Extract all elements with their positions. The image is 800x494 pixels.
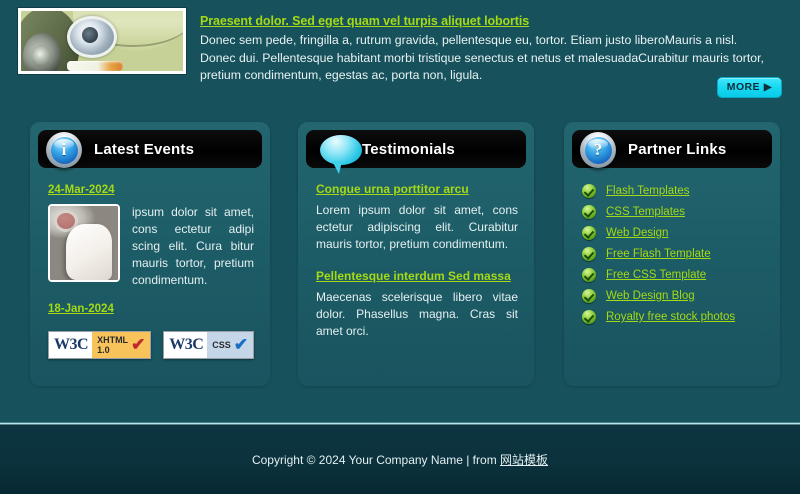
more-button[interactable]: MORE ▶	[717, 77, 782, 98]
thumb-seat-back	[66, 224, 112, 280]
hero-banner: Praesent dolor. Sed eget quam vel turpis…	[0, 0, 800, 112]
info-orb-glyph: i	[51, 137, 78, 164]
w3c-mark-label-2: W3C	[164, 332, 207, 358]
event-date-link-2[interactable]: 18-Jan-2024	[48, 303, 114, 315]
list-item[interactable]: CSS Templates	[582, 205, 764, 219]
testimonial-link-1[interactable]: Congue urna porttitor arcu	[316, 182, 469, 196]
partner-links-title: Partner Links	[628, 141, 726, 158]
testimonial-text-2: Maecenas scelerisque libero vitae dolor.…	[316, 289, 518, 340]
testimonials-title: Testimonials	[362, 141, 455, 158]
panel-latest-events: i Latest Events 24-Mar-2024 ipsum dolor …	[30, 122, 270, 386]
w3c-xhtml-kind-label: XHTML 1.0	[97, 335, 128, 355]
list-item[interactable]: Royalty free stock photos	[582, 310, 764, 324]
more-button-label: MORE	[727, 81, 760, 93]
copyright-text: Copyright © 2024 Your Company Name | fro…	[252, 451, 548, 468]
w3c-mark-label: W3C	[49, 332, 92, 358]
more-button-wrapper: MORE ▶	[717, 77, 782, 98]
partner-link-1[interactable]: CSS Templates	[606, 206, 685, 218]
partner-link-3[interactable]: Free Flash Template	[606, 248, 711, 260]
copyright-label: Copyright © 2024 Your Company Name | fro…	[252, 453, 500, 467]
list-item[interactable]: Free Flash Template	[582, 247, 764, 261]
partner-links-body: Flash Templates CSS Templates Web Design…	[564, 168, 780, 324]
green-check-icon	[582, 205, 596, 219]
speech-bubble-icon	[314, 132, 350, 168]
w3c-css-kind-label: CSS	[212, 340, 231, 350]
latest-events-header: i Latest Events	[38, 130, 262, 168]
w3c-css-badge[interactable]: W3C CSS ✔	[163, 331, 254, 359]
footer: Copyright © 2024 Your Company Name | fro…	[0, 425, 800, 494]
hero-text-block: Praesent dolor. Sed eget quam vel turpis…	[200, 8, 790, 112]
validation-badges: W3C XHTML 1.0 ✔ W3C CSS ✔	[48, 331, 254, 359]
partner-link-5[interactable]: Web Design Blog	[606, 290, 695, 302]
green-check-icon	[582, 310, 596, 324]
green-check-icon	[582, 184, 596, 198]
w3c-css-kind: CSS ✔	[207, 332, 253, 358]
arrow-right-icon: ▶	[764, 82, 772, 93]
car-interior-photo	[48, 204, 120, 282]
footer-template-link[interactable]: 网站模板	[500, 453, 548, 467]
testimonial-text-1: Lorem ipsum dolor sit amet, cons ectetur…	[316, 202, 518, 253]
w3c-xhtml-badge[interactable]: W3C XHTML 1.0 ✔	[48, 331, 151, 359]
partner-links-list: Flash Templates CSS Templates Web Design…	[582, 184, 764, 324]
content-columns: i Latest Events 24-Mar-2024 ipsum dolor …	[0, 112, 800, 424]
checkmark-icon-2: ✔	[234, 340, 248, 350]
hero-title-link[interactable]: Praesent dolor. Sed eget quam vel turpis…	[200, 14, 529, 28]
partner-links-header: ? Partner Links	[572, 130, 772, 168]
testimonials-body: Congue urna porttitor arcu Lorem ipsum d…	[298, 168, 534, 340]
hero-body-text: Donec sem pede, fringilla a, rutrum grav…	[200, 32, 790, 85]
page-root: Praesent dolor. Sed eget quam vel turpis…	[0, 0, 800, 494]
panel-partner-links: ? Partner Links Flash Templates CSS Temp…	[564, 122, 780, 386]
list-item[interactable]: Flash Templates	[582, 184, 764, 198]
w3c-xhtml-kind: XHTML 1.0 ✔	[92, 332, 150, 358]
info-orb-icon: i	[46, 132, 82, 168]
green-check-icon	[582, 289, 596, 303]
event-item: ipsum dolor sit amet, cons ectetur adipi…	[48, 204, 254, 289]
event-date-link[interactable]: 24-Mar-2024	[48, 184, 114, 196]
partner-link-4[interactable]: Free CSS Template	[606, 269, 706, 281]
list-item[interactable]: Web Design Blog	[582, 289, 764, 303]
green-check-icon	[582, 247, 596, 261]
partner-link-6[interactable]: Royalty free stock photos	[606, 311, 735, 323]
latest-events-title: Latest Events	[94, 141, 194, 158]
event-description: ipsum dolor sit amet, cons ectetur adipi…	[132, 204, 254, 289]
green-check-icon	[582, 226, 596, 240]
list-item[interactable]: Web Design	[582, 226, 764, 240]
partner-link-2[interactable]: Web Design	[606, 227, 668, 239]
car-headlight-photo	[18, 8, 186, 74]
green-check-icon	[582, 268, 596, 282]
testimonial-link-2[interactable]: Pellentesque interdum Sed massa	[316, 269, 511, 283]
photo-headlamp	[67, 16, 117, 58]
photo-blinker	[67, 61, 123, 71]
photo-wheel	[23, 33, 61, 74]
question-orb-icon: ?	[580, 132, 616, 168]
question-orb-glyph: ?	[585, 137, 612, 164]
checkmark-icon: ✔	[131, 340, 145, 350]
latest-events-body: 24-Mar-2024 ipsum dolor sit amet, cons e…	[30, 168, 270, 359]
panel-testimonials: Testimonials Congue urna porttitor arcu …	[298, 122, 534, 386]
testimonials-header: Testimonials	[306, 130, 526, 168]
partner-link-0[interactable]: Flash Templates	[606, 185, 690, 197]
list-item[interactable]: Free CSS Template	[582, 268, 764, 282]
